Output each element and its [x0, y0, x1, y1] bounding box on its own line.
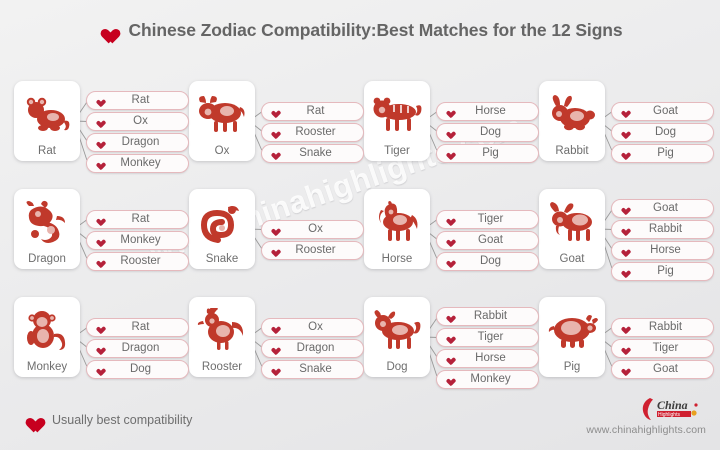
heart-icon — [270, 108, 278, 115]
dragon-illustration — [20, 189, 74, 252]
match-label: Ox — [278, 319, 363, 336]
match-label: Rat — [103, 211, 188, 228]
match-label: Snake — [278, 145, 363, 162]
match-pill[interactable]: Ox — [261, 220, 364, 239]
sign-name-label: Dog — [386, 360, 407, 374]
heart-icon — [95, 97, 103, 104]
heart-icon — [620, 108, 628, 115]
match-label: Dragon — [103, 340, 188, 357]
match-pill[interactable]: Horse — [436, 102, 539, 121]
pig-illustration — [545, 297, 599, 360]
match-list-snake: OxRooster — [261, 186, 364, 294]
zodiac-grid: RatRatOxDragonMonkeyOxRatRoosterSnakeTig… — [14, 78, 714, 402]
match-pill[interactable]: Tiger — [611, 339, 714, 358]
sign-card-ox[interactable]: Ox — [189, 81, 255, 161]
heart-icon — [620, 345, 628, 352]
sign-card-rat[interactable]: Rat — [14, 81, 80, 161]
match-label: Pig — [453, 145, 538, 162]
sign-name-label: Dragon — [28, 252, 66, 266]
match-label: Goat — [628, 361, 713, 378]
match-label: Pig — [628, 263, 713, 280]
heart-icon — [95, 366, 103, 373]
match-label: Rabbit — [628, 319, 713, 336]
dog-illustration — [370, 297, 424, 360]
sign-name-label: Goat — [560, 252, 585, 266]
heart-icon — [620, 226, 628, 233]
match-label: Rabbit — [628, 221, 713, 238]
heart-icon — [445, 355, 453, 362]
sign-group-rat: RatRatOxDragonMonkey — [14, 78, 189, 186]
match-label: Rat — [278, 103, 363, 120]
heart-icon — [620, 205, 628, 212]
rabbit-illustration — [545, 81, 599, 144]
match-pill[interactable]: Dog — [611, 123, 714, 142]
match-pill[interactable]: Rat — [86, 210, 189, 229]
sign-name-label: Pig — [564, 360, 581, 374]
heart-icon — [95, 258, 103, 265]
match-pill[interactable]: Rat — [86, 91, 189, 110]
match-list-rat: RatOxDragonMonkey — [86, 78, 189, 186]
snake-illustration — [195, 189, 249, 252]
legend-label: Usually best compatibility — [52, 413, 192, 427]
monkey-illustration — [20, 297, 74, 360]
match-label: Dog — [628, 124, 713, 141]
sign-card-horse[interactable]: Horse — [364, 189, 430, 269]
rat-illustration — [20, 81, 74, 144]
match-pill[interactable]: Rabbit — [436, 307, 539, 326]
heart-icon — [97, 23, 114, 38]
sign-name-label: Rabbit — [555, 144, 588, 158]
sign-group-dragon: DragonRatMonkeyRooster — [14, 186, 189, 294]
heart-icon — [445, 216, 453, 223]
match-pill[interactable]: Goat — [611, 102, 714, 121]
sign-name-label: Horse — [382, 252, 413, 266]
sign-name-label: Rooster — [202, 360, 242, 374]
sign-group-dog: DogRabbitTigerHorseMonkey — [364, 294, 539, 402]
page-header: Chinese Zodiac Compatibility:Best Matche… — [0, 20, 720, 41]
sign-card-tiger[interactable]: Tiger — [364, 81, 430, 161]
match-pill[interactable]: Dragon — [86, 133, 189, 152]
match-pill[interactable]: Tiger — [436, 210, 539, 229]
sign-card-monkey[interactable]: Monkey — [14, 297, 80, 377]
horse-illustration — [370, 189, 424, 252]
sign-card-goat[interactable]: Goat — [539, 189, 605, 269]
match-pill[interactable]: Rooster — [261, 123, 364, 142]
heart-icon — [445, 108, 453, 115]
match-label: Rabbit — [453, 308, 538, 325]
match-list-goat: GoatRabbitHorsePig — [611, 186, 714, 294]
match-pill[interactable]: Rabbit — [611, 220, 714, 239]
match-label: Dragon — [278, 340, 363, 357]
heart-icon — [620, 366, 628, 373]
match-pill[interactable]: Goat — [436, 231, 539, 250]
match-pill[interactable]: Rooster — [86, 252, 189, 271]
match-label: Tiger — [628, 340, 713, 357]
match-label: Goat — [628, 103, 713, 120]
heart-icon — [445, 129, 453, 136]
heart-icon — [95, 324, 103, 331]
match-label: Monkey — [103, 155, 188, 172]
match-pill[interactable]: Ox — [261, 318, 364, 337]
match-pill[interactable]: Horse — [436, 349, 539, 368]
heart-icon — [95, 118, 103, 125]
legend: Usually best compatibility — [22, 412, 192, 427]
sign-name-label: Monkey — [27, 360, 67, 374]
sign-name-label: Ox — [215, 144, 230, 158]
match-label: Goat — [453, 232, 538, 249]
match-label: Rooster — [103, 253, 188, 270]
match-pill[interactable]: Rat — [261, 102, 364, 121]
heart-icon — [445, 313, 453, 320]
heart-icon — [95, 139, 103, 146]
svg-text:China: China — [657, 398, 688, 412]
sign-group-ox: OxRatRoosterSnake — [189, 78, 364, 186]
match-label: Horse — [628, 242, 713, 259]
match-pill[interactable]: Pig — [611, 262, 714, 281]
sign-card-rooster[interactable]: Rooster — [189, 297, 255, 377]
heart-icon — [270, 345, 278, 352]
heart-icon — [445, 334, 453, 341]
china-highlights-logo: China Highlights — [556, 396, 706, 422]
heart-icon — [620, 268, 628, 275]
match-pill[interactable]: Monkey — [436, 370, 539, 389]
match-pill[interactable]: Goat — [611, 360, 714, 379]
match-pill[interactable]: Pig — [611, 144, 714, 163]
sign-group-snake: SnakeOxRooster — [189, 186, 364, 294]
match-label: Dog — [453, 253, 538, 270]
sign-group-pig: PigRabbitTigerGoat — [539, 294, 714, 402]
page-title: Chinese Zodiac Compatibility:Best Matche… — [128, 20, 622, 41]
match-list-tiger: HorseDogPig — [436, 78, 539, 186]
sign-group-monkey: MonkeyRatDragonDog — [14, 294, 189, 402]
sign-group-rooster: RoosterOxDragonSnake — [189, 294, 364, 402]
match-label: Monkey — [453, 371, 538, 388]
brand-url: www.chinahighlights.com — [556, 424, 706, 436]
match-pill[interactable]: Monkey — [86, 231, 189, 250]
goat-illustration — [545, 189, 599, 252]
heart-icon — [445, 237, 453, 244]
sign-group-horse: HorseTigerGoatDog — [364, 186, 539, 294]
match-pill[interactable]: Snake — [261, 144, 364, 163]
sign-name-label: Snake — [206, 252, 239, 266]
match-pill[interactable]: Goat — [611, 199, 714, 218]
heart-icon — [270, 150, 278, 157]
heart-icon — [445, 376, 453, 383]
match-pill[interactable]: Dragon — [261, 339, 364, 358]
match-pill[interactable]: Rabbit — [611, 318, 714, 337]
match-label: Horse — [453, 103, 538, 120]
match-pill[interactable]: Tiger — [436, 328, 539, 347]
heart-icon — [95, 345, 103, 352]
sign-card-dragon[interactable]: Dragon — [14, 189, 80, 269]
heart-icon — [270, 129, 278, 136]
heart-icon — [270, 366, 278, 373]
match-label: Monkey — [103, 232, 188, 249]
heart-icon — [95, 160, 103, 167]
heart-icon — [270, 247, 278, 254]
match-list-monkey: RatDragonDog — [86, 294, 189, 402]
logo-mark-icon: China Highlights — [638, 396, 706, 422]
heart-icon — [620, 324, 628, 331]
match-label: Ox — [103, 113, 188, 130]
sign-group-rabbit: RabbitGoatDogPig — [539, 78, 714, 186]
match-pill[interactable]: Horse — [611, 241, 714, 260]
match-label: Horse — [453, 350, 538, 367]
match-list-rabbit: GoatDogPig — [611, 78, 714, 186]
match-label: Tiger — [453, 211, 538, 228]
heart-icon — [620, 247, 628, 254]
ox-illustration — [195, 81, 249, 144]
match-label: Dragon — [103, 134, 188, 151]
sign-name-label: Tiger — [384, 144, 410, 158]
match-pill[interactable]: Rooster — [261, 241, 364, 260]
match-label: Rooster — [278, 242, 363, 259]
match-list-pig: RabbitTigerGoat — [611, 294, 714, 402]
match-label: Dog — [103, 361, 188, 378]
match-list-rooster: OxDragonSnake — [261, 294, 364, 402]
heart-icon — [22, 412, 39, 427]
sign-card-rabbit[interactable]: Rabbit — [539, 81, 605, 161]
match-label: Ox — [278, 221, 363, 238]
tiger-illustration — [370, 81, 424, 144]
heart-icon — [620, 150, 628, 157]
match-label: Rat — [103, 92, 188, 109]
sign-card-pig[interactable]: Pig — [539, 297, 605, 377]
heart-icon — [445, 258, 453, 265]
match-pill[interactable]: Dragon — [86, 339, 189, 358]
svg-text:Highlights: Highlights — [658, 412, 680, 418]
match-label: Dog — [453, 124, 538, 141]
match-list-dog: RabbitTigerHorseMonkey — [436, 294, 539, 402]
match-list-horse: TigerGoatDog — [436, 186, 539, 294]
sign-card-snake[interactable]: Snake — [189, 189, 255, 269]
match-label: Rooster — [278, 124, 363, 141]
match-pill[interactable]: Pig — [436, 144, 539, 163]
match-pill[interactable]: Dog — [86, 360, 189, 379]
match-label: Rat — [103, 319, 188, 336]
match-pill[interactable]: Dog — [436, 252, 539, 271]
rooster-illustration — [195, 297, 249, 360]
heart-icon — [95, 216, 103, 223]
heart-icon — [95, 237, 103, 244]
match-label: Snake — [278, 361, 363, 378]
match-label: Goat — [628, 200, 713, 217]
match-pill[interactable]: Rat — [86, 318, 189, 337]
match-list-dragon: RatMonkeyRooster — [86, 186, 189, 294]
sign-name-label: Rat — [38, 144, 56, 158]
sign-group-tiger: TigerHorseDogPig — [364, 78, 539, 186]
match-pill[interactable]: Monkey — [86, 154, 189, 173]
heart-icon — [270, 324, 278, 331]
match-list-ox: RatRoosterSnake — [261, 78, 364, 186]
heart-icon — [445, 150, 453, 157]
match-pill[interactable]: Snake — [261, 360, 364, 379]
brand-block: China Highlights www.chinahighlights.com — [556, 396, 706, 436]
match-label: Pig — [628, 145, 713, 162]
match-pill[interactable]: Ox — [86, 112, 189, 131]
heart-icon — [270, 226, 278, 233]
sign-card-dog[interactable]: Dog — [364, 297, 430, 377]
match-label: Tiger — [453, 329, 538, 346]
match-pill[interactable]: Dog — [436, 123, 539, 142]
sign-group-goat: GoatGoatRabbitHorsePig — [539, 186, 714, 294]
heart-icon — [620, 129, 628, 136]
